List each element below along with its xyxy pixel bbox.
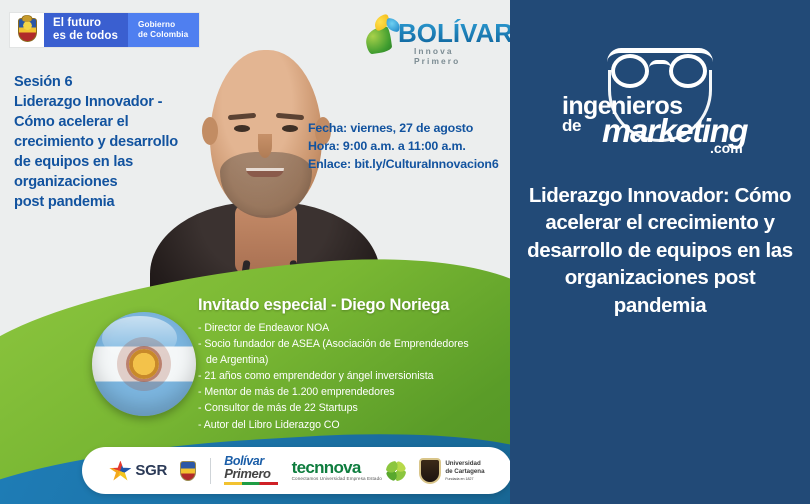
uc-sub: Fundada en 1827 [445, 477, 484, 481]
ingenieros-de-marketing-logo: ingenieros de marketing .com [510, 40, 810, 160]
sun-of-may-icon [129, 349, 159, 379]
bolivar-mark-icon [362, 14, 402, 54]
left-panel: El futuro es de todos Gobierno de Colomb… [0, 0, 510, 504]
molecule-icon [386, 461, 406, 481]
sponsor-logo-minciencias [180, 461, 196, 481]
gov-slogan-line1: El futuro [53, 17, 118, 30]
divider [210, 458, 211, 484]
bolivar-primero-line2: Primero [224, 468, 278, 480]
flag-stripe [224, 482, 278, 485]
bolivar-tagline: Innova Primero [414, 46, 494, 66]
right-panel: ingenieros de marketing .com Liderazgo I… [510, 0, 810, 504]
sponsor-logo-universidad-cartagena: Universidad de Cartagena Fundada en 1827 [419, 458, 484, 484]
list-item: - Consultor de más de 22 Startups [198, 400, 510, 416]
brand-domain: .com [710, 140, 743, 156]
tecnnova-sub: Conectamos Universidad Empresa Estado [292, 477, 382, 482]
event-time: Hora: 9:00 a.m. a 11:00 a.m. [308, 138, 508, 156]
sponsor-logo-bolivar-primero: Bolívar Primero [224, 456, 278, 484]
uc-line2: de Cartagena [445, 468, 484, 475]
sponsor-logo-sgr: SGR [109, 461, 167, 481]
sgr-label: SGR [135, 462, 167, 479]
sponsor-logo-bar: SGR Bolívar Primero tecnnova Conectamos … [82, 447, 510, 494]
sponsor-logo-tecnnova: tecnnova Conectamos Universidad Empresa … [292, 459, 406, 482]
guest-credentials: - Director de Endeavor NOA - Socio funda… [198, 320, 510, 433]
event-date: Fecha: viernes, 27 de agosto [308, 120, 508, 138]
argentina-flag-icon [92, 312, 196, 416]
tecnnova-label: tecnnova [292, 459, 382, 476]
crest-icon [419, 458, 441, 484]
event-details: Fecha: viernes, 27 de agosto Hora: 9:00 … [308, 120, 508, 174]
bolivar-logo: BOLÍVAR Innova Primero [362, 8, 494, 60]
event-link[interactable]: Enlace: bit.ly/CulturaInnovacion6 [308, 156, 508, 174]
webinar-poster: El futuro es de todos Gobierno de Colomb… [0, 0, 810, 504]
list-item: - Socio fundador de ASEA (Asociación de … [198, 336, 510, 352]
gov-slogan: El futuro es de todos [44, 13, 128, 47]
uc-line1: Universidad [445, 460, 480, 467]
colombia-shield-icon [180, 461, 196, 481]
star-icon [109, 461, 131, 481]
gov-slogan-line2: es de todos [53, 30, 118, 43]
list-item: - Autor del Libro Liderazgo CO [198, 417, 510, 433]
guest-title: Invitado especial - Diego Noriega [198, 296, 510, 315]
list-item: - Mentor de más de 1.200 emprendedores [198, 384, 510, 400]
bolivar-wordmark: BOLÍVAR [398, 18, 510, 49]
list-item: - Director de Endeavor NOA [198, 320, 510, 336]
list-item: de Argentina) [198, 352, 510, 368]
colombia-coat-of-arms-icon [10, 13, 44, 47]
list-item: - 21 años como emprendedor y ángel inver… [198, 368, 510, 384]
page-title: Liderazgo Innovador: Cómo acelerar el cr… [524, 182, 796, 319]
